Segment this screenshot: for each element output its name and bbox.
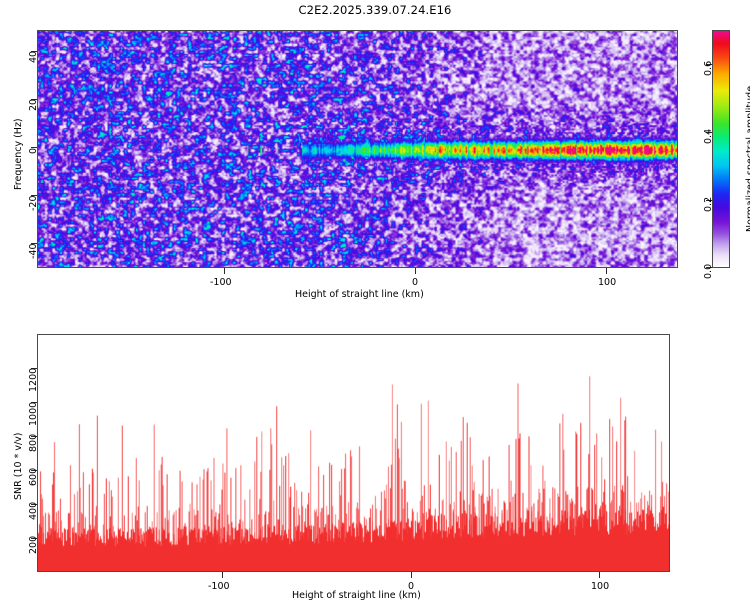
snr-y-ticklabel-200: 200: [28, 536, 39, 554]
colorbar: [712, 30, 730, 268]
spectrogram-x-axis-label: Height of straight line (km): [295, 289, 424, 300]
y-ticklabel-20: 20: [28, 99, 39, 111]
cbar-ticklabel-00: 0.0: [703, 264, 714, 279]
x-ticklabel-0: 0: [412, 277, 418, 288]
spectrogram-plot-area: [37, 30, 678, 268]
cbar-ticklabel-02: 0.2: [703, 197, 714, 212]
snr-x-tick-100: [599, 572, 600, 578]
snr-plot-area: [37, 334, 670, 572]
x-tick-0: [415, 268, 416, 274]
x-ticklabel-m100: -100: [210, 277, 232, 288]
cbar-ticklabel-06: 0.6: [703, 61, 714, 76]
snr-x-axis-label: Height of straight line (km): [292, 590, 421, 601]
snr-y-axis-label: SNR (10 * v/v): [13, 433, 24, 501]
x-ticklabel-100: 100: [598, 277, 616, 288]
cbar-ticklabel-04: 0.4: [703, 129, 714, 144]
y-ticklabel-0: 0: [28, 148, 39, 154]
spectrogram-canvas: [38, 31, 677, 267]
snr-y-ticklabel-400: 400: [28, 502, 39, 520]
y-ticklabel-m40: -40: [28, 243, 39, 259]
snr-canvas: [38, 335, 669, 571]
snr-y-ticklabel-1000: 1000: [28, 402, 39, 426]
x-tick-m100: [224, 268, 225, 274]
snr-x-ticklabel-m100: -100: [208, 581, 230, 592]
y-ticklabel-m20: -20: [28, 195, 39, 211]
snr-y-ticklabel-1200: 1200: [28, 368, 39, 392]
colorbar-canvas: [713, 31, 729, 267]
snr-y-ticklabel-800: 800: [28, 434, 39, 452]
colorbar-label: Normalized spectral amplitude: [745, 86, 750, 232]
figure-title: C2E2.2025.339.07.24.E16: [0, 3, 750, 17]
y-ticklabel-40: 40: [28, 51, 39, 63]
x-tick-100: [606, 268, 607, 274]
spectrogram-y-axis-label: Frequency (Hz): [13, 118, 24, 190]
snr-x-ticklabel-100: 100: [591, 581, 609, 592]
figure-root: C2E2.2025.339.07.24.E16 40 20 0 -20 -40 …: [0, 0, 750, 600]
snr-x-tick-m100: [222, 572, 223, 578]
snr-x-tick-0: [411, 572, 412, 578]
snr-y-ticklabel-600: 600: [28, 468, 39, 486]
